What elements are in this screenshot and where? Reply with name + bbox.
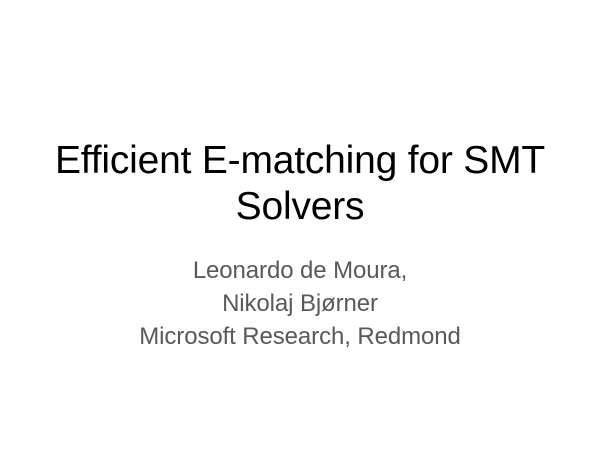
title-slide: Efficient E-matching for SMT Solvers Leo…	[0, 0, 600, 450]
slide-title: Efficient E-matching for SMT Solvers	[50, 138, 550, 231]
subtitle-line-authors-1: Leonardo de Moura,	[60, 255, 540, 288]
title-placeholder[interactable]: Efficient E-matching for SMT Solvers	[50, 138, 550, 231]
subtitle-line-authors-2: Nikolaj Bjørner	[60, 288, 540, 321]
subtitle-line-affiliation: Microsoft Research, Redmond	[60, 321, 540, 354]
subtitle-placeholder[interactable]: Leonardo de Moura, Nikolaj Bjørner Micro…	[60, 255, 540, 354]
